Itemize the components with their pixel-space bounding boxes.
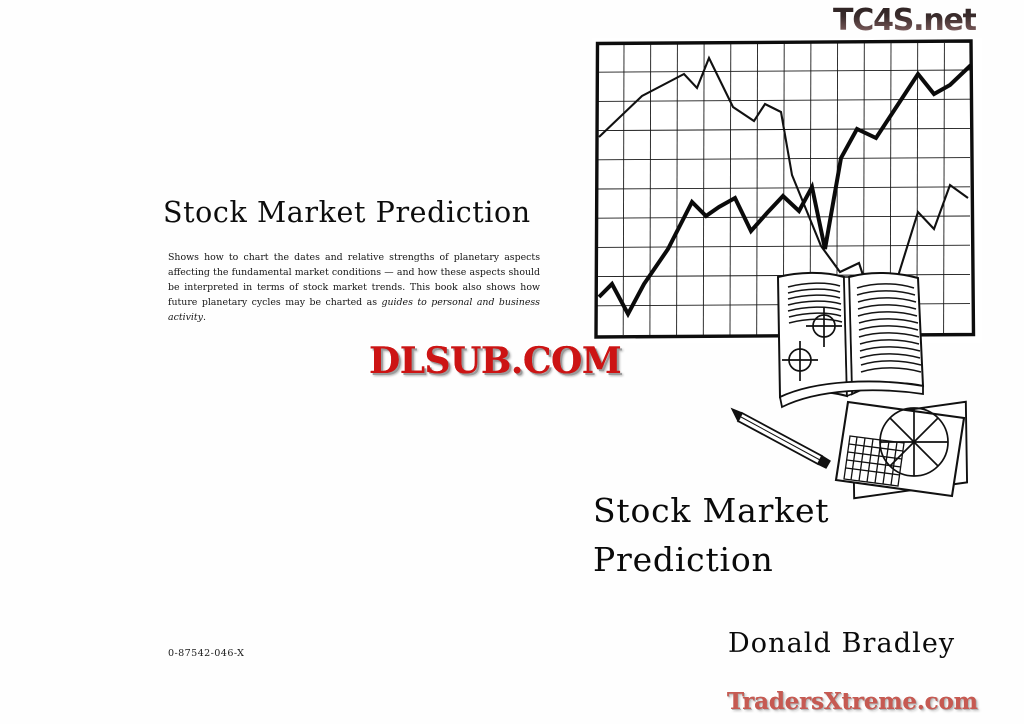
front-cover-title-line2: Prediction xyxy=(593,535,1013,584)
dlsub-watermark: DLSUB.COM xyxy=(369,340,621,382)
tradersxtreme-watermark: TradersXtreme.com xyxy=(727,688,978,715)
tc4s-watermark: TC4S.net xyxy=(833,3,976,38)
book-cover-scan: Stock Market Prediction Shows how to cha… xyxy=(0,0,1024,724)
front-cover-author: Donald Bradley xyxy=(728,628,955,659)
open-book-pencil-astrology-chart-illustration xyxy=(726,268,981,508)
back-cover-title: Stock Market Prediction xyxy=(163,196,553,229)
isbn-number: 0-87542-046-X xyxy=(168,648,244,659)
blurb-text-trailing: . xyxy=(203,312,206,323)
open-book-icon xyxy=(778,273,923,407)
pencil-icon xyxy=(732,409,830,468)
back-cover-blurb: Shows how to chart the dates and relativ… xyxy=(168,250,540,325)
